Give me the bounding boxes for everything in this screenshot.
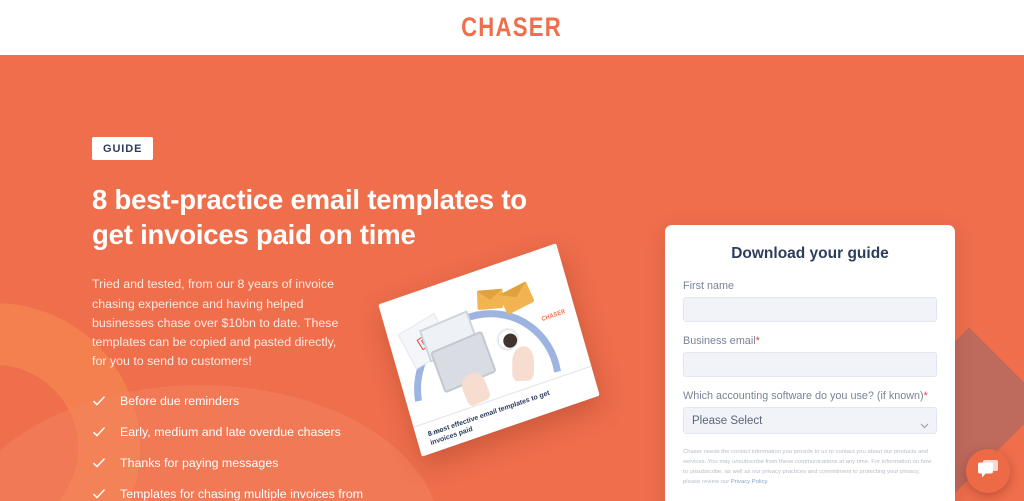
list-item: Thanks for paying messages — [92, 455, 382, 473]
business-email-input[interactable] — [683, 352, 937, 377]
feature-checklist: Before due reminders Early, medium and l… — [92, 393, 562, 501]
first-name-label-text: First name — [683, 280, 734, 292]
chat-bubble-icon — [977, 459, 999, 484]
business-email-label: Business email* — [683, 335, 937, 347]
first-name-input[interactable] — [683, 297, 937, 322]
required-asterisk: * — [924, 390, 928, 402]
page-title: 8 best-practice email templates to get i… — [92, 183, 562, 252]
list-item-label: Thanks for paying messages — [120, 455, 278, 473]
business-email-field-group: Business email* — [683, 335, 937, 377]
list-item: Early, medium and late overdue chasers — [92, 424, 382, 442]
accounting-software-label-text: Which accounting software do you use? (i… — [683, 390, 924, 402]
list-item: Before due reminders — [92, 393, 382, 411]
accounting-software-field-group: Which accounting software do you use? (i… — [683, 390, 937, 434]
check-icon — [92, 456, 106, 470]
guide-badge: GUIDE — [92, 137, 153, 160]
first-name-label: First name — [683, 280, 937, 292]
chat-widget-button[interactable] — [966, 449, 1010, 493]
accounting-software-label: Which accounting software do you use? (i… — [683, 390, 937, 402]
legal-text: Chaser needs the contact information you… — [683, 449, 932, 485]
landing-page: CHASER GUIDE 8 best-practice email templ… — [0, 0, 1024, 501]
hero-description: Tried and tested, from our 8 years of in… — [92, 275, 354, 371]
hero-content: GUIDE 8 best-practice email templates to… — [92, 137, 562, 501]
list-item-label: Early, medium and late overdue chasers — [120, 424, 341, 442]
hero-section: GUIDE 8 best-practice email templates to… — [0, 55, 1024, 501]
check-icon — [92, 394, 106, 408]
list-item-label: Before due reminders — [120, 393, 239, 411]
chaser-logo[interactable]: CHASER — [462, 12, 563, 43]
list-item: Templates for chasing multiple invoices … — [92, 486, 382, 501]
accounting-software-select-wrap: Please Select — [683, 407, 937, 434]
legal-disclaimer: Chaser needs the contact information you… — [683, 447, 937, 488]
required-asterisk: * — [756, 335, 760, 347]
form-title: Download your guide — [683, 245, 937, 263]
site-header: CHASER — [0, 0, 1024, 55]
check-icon — [92, 425, 106, 439]
business-email-label-text: Business email — [683, 335, 756, 347]
download-form-card: Download your guide First name Business … — [665, 225, 955, 501]
accounting-software-select[interactable]: Please Select — [683, 407, 937, 434]
list-item-label: Templates for chasing multiple invoices … — [120, 486, 382, 501]
privacy-policy-link[interactable]: Privacy Policy. — [731, 479, 769, 485]
check-icon — [92, 487, 106, 501]
first-name-field-group: First name — [683, 280, 937, 322]
